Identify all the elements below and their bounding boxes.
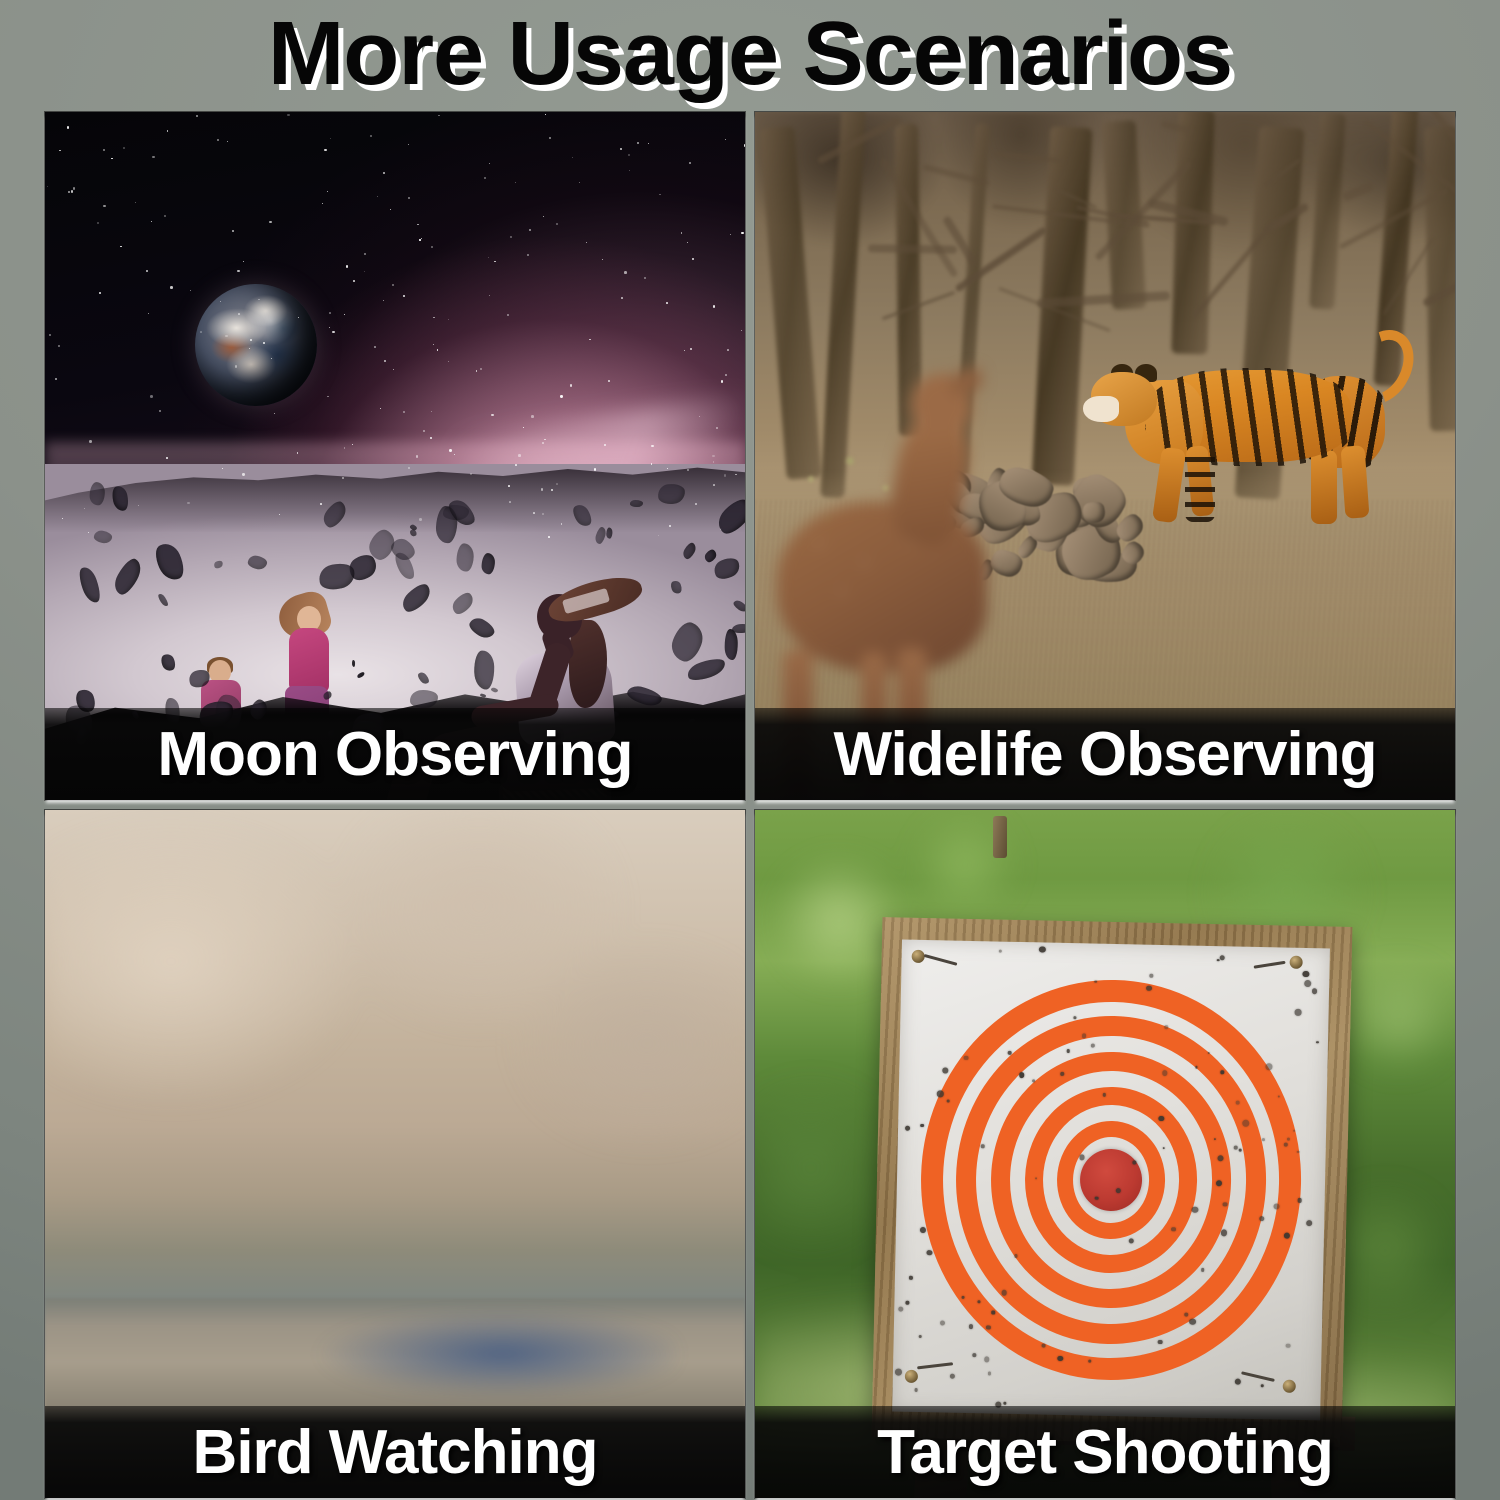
bullet-hole xyxy=(987,1372,991,1376)
star xyxy=(103,149,106,152)
star xyxy=(602,259,603,260)
caption-bar-target-shooting: Target Shooting xyxy=(755,1406,1455,1498)
star xyxy=(258,299,259,300)
lunar-rock xyxy=(456,543,474,572)
star xyxy=(47,186,48,187)
star xyxy=(364,271,365,272)
star xyxy=(88,532,89,533)
star xyxy=(89,440,92,443)
star xyxy=(684,350,685,351)
bullet-hole xyxy=(1079,1154,1085,1160)
star xyxy=(489,295,490,296)
bullet-hole xyxy=(998,950,1001,953)
star xyxy=(55,378,57,380)
star xyxy=(152,156,155,159)
tree-trunk xyxy=(1171,112,1214,355)
star xyxy=(724,474,727,477)
star xyxy=(166,457,168,459)
star xyxy=(364,253,366,255)
star xyxy=(190,290,191,291)
star xyxy=(111,158,112,159)
star xyxy=(476,370,478,372)
bullet-hole xyxy=(1265,1063,1272,1070)
star xyxy=(120,246,121,247)
star xyxy=(332,331,334,333)
star xyxy=(692,258,695,261)
bullet-hole xyxy=(1236,1100,1240,1104)
star xyxy=(549,137,551,139)
star xyxy=(681,232,683,234)
star xyxy=(556,223,558,225)
bullet-hole xyxy=(1295,1009,1301,1015)
star xyxy=(667,468,668,469)
scenario-panel-grid: Moon Observing xyxy=(45,112,1455,1497)
page-title: More Usage Scenarios xyxy=(0,4,1500,104)
bullet-hole xyxy=(1157,1340,1162,1345)
star xyxy=(507,314,509,316)
caption-bar-widelife-observing: Widelife Observing xyxy=(755,708,1455,800)
star xyxy=(62,518,63,519)
bullet-hole xyxy=(914,1388,918,1392)
star xyxy=(327,191,328,192)
star xyxy=(589,339,591,341)
star xyxy=(269,221,272,224)
bullet-hole xyxy=(1219,955,1224,960)
star xyxy=(449,449,452,452)
bullet-hole xyxy=(1306,1220,1312,1226)
star xyxy=(392,284,394,286)
board-screw xyxy=(1290,956,1303,969)
bullet-hole xyxy=(1214,1138,1216,1140)
star xyxy=(170,286,173,289)
bullet-hole xyxy=(1184,1312,1188,1316)
scenario-panel-bird-watching[interactable]: Bird Watching xyxy=(45,810,745,1498)
star xyxy=(344,314,345,315)
star xyxy=(437,349,439,351)
star xyxy=(384,360,387,363)
caption-label-widelife-observing: Widelife Observing xyxy=(834,719,1377,790)
bullet-hole xyxy=(1159,1116,1165,1122)
star xyxy=(494,261,495,262)
star xyxy=(330,138,331,139)
star xyxy=(232,230,234,232)
star xyxy=(403,411,405,413)
star xyxy=(103,205,105,207)
nail-mark xyxy=(1254,961,1286,969)
star xyxy=(416,455,418,457)
star xyxy=(529,229,531,231)
bullet-hole xyxy=(984,1357,989,1362)
star xyxy=(393,369,394,370)
star xyxy=(620,148,622,150)
star xyxy=(403,295,405,297)
bullet-hole xyxy=(1303,971,1309,977)
bullet-hole xyxy=(1201,1268,1205,1272)
star xyxy=(629,170,630,171)
bullet-hole xyxy=(1242,1120,1249,1127)
star xyxy=(329,327,330,328)
star xyxy=(431,246,433,248)
star xyxy=(669,525,671,527)
board-screw xyxy=(912,950,925,963)
star xyxy=(527,254,529,256)
star xyxy=(146,270,148,272)
bullet-hole xyxy=(1089,1359,1092,1362)
star xyxy=(508,485,510,487)
earth-planet-icon xyxy=(195,284,317,406)
bullet-hole xyxy=(1162,1071,1167,1076)
star xyxy=(59,150,61,152)
bullet-hole xyxy=(1238,1148,1241,1151)
star xyxy=(628,154,630,156)
star xyxy=(71,190,73,192)
star xyxy=(570,384,572,386)
star xyxy=(433,317,434,318)
caption-label-moon-observing: Moon Observing xyxy=(157,719,632,790)
bullet-hole xyxy=(1259,1216,1264,1221)
bullet-hole xyxy=(898,1307,903,1312)
star xyxy=(320,503,322,505)
bullet-hole xyxy=(1304,980,1311,987)
bullet-hole xyxy=(1164,1025,1168,1029)
star xyxy=(744,144,745,147)
star xyxy=(97,222,99,224)
star xyxy=(159,410,161,412)
lunar-rock xyxy=(724,629,737,660)
target-board xyxy=(892,940,1330,1421)
star xyxy=(430,437,432,439)
star xyxy=(243,261,244,262)
bullet-hole xyxy=(943,1067,949,1073)
star xyxy=(648,143,649,144)
bullet-hole xyxy=(1057,1356,1063,1362)
bullet-hole xyxy=(1095,980,1097,982)
star xyxy=(380,408,381,409)
nail-mark xyxy=(924,954,958,966)
bullet-hole xyxy=(1032,1079,1035,1082)
bullet-hole xyxy=(927,1250,933,1256)
caption-label-target-shooting: Target Shooting xyxy=(877,1417,1333,1488)
star xyxy=(419,239,420,240)
star xyxy=(390,209,391,210)
bullet-hole xyxy=(1162,1147,1164,1149)
star xyxy=(624,271,627,274)
bullet-hole xyxy=(895,1369,902,1376)
target-wooden-frame xyxy=(872,917,1353,1447)
bullet-hole xyxy=(940,1320,946,1326)
star xyxy=(716,427,718,429)
star xyxy=(545,114,546,115)
star xyxy=(225,335,227,337)
star xyxy=(421,238,422,239)
star xyxy=(725,374,727,376)
star xyxy=(533,512,535,514)
star xyxy=(644,277,646,279)
bullet-hole xyxy=(1262,1138,1265,1141)
star xyxy=(480,368,482,370)
star xyxy=(515,182,516,183)
bullet-hole xyxy=(1132,1161,1136,1165)
nail-mark xyxy=(917,1362,953,1369)
caption-label-bird-watching: Bird Watching xyxy=(193,1417,598,1488)
bullet-hole xyxy=(919,1335,922,1338)
nail-mark xyxy=(1241,1371,1275,1382)
star xyxy=(572,157,573,158)
bullet-hole xyxy=(992,1311,995,1314)
star xyxy=(167,130,169,132)
caption-bar-moon-observing: Moon Observing xyxy=(45,708,745,800)
star xyxy=(346,265,348,267)
star xyxy=(621,297,623,299)
star xyxy=(135,202,136,203)
widelife-observing-photo xyxy=(755,112,1455,800)
bullet-hole xyxy=(1008,1051,1012,1055)
star xyxy=(433,344,434,345)
bullet-hole xyxy=(1019,1072,1025,1078)
star xyxy=(515,464,517,466)
bullet-hole xyxy=(1003,1401,1006,1404)
star xyxy=(484,177,486,179)
tiger-figure xyxy=(1085,330,1415,530)
star xyxy=(150,395,153,398)
star xyxy=(151,221,152,222)
star xyxy=(164,215,166,217)
bullet-hole xyxy=(968,1324,973,1329)
star xyxy=(689,162,691,164)
star xyxy=(344,447,346,449)
star xyxy=(727,349,729,351)
star xyxy=(370,135,372,137)
bullet-hole xyxy=(1095,1197,1098,1200)
bullet-hole xyxy=(972,1353,976,1357)
star xyxy=(377,196,378,197)
star xyxy=(604,444,606,446)
star xyxy=(730,234,731,235)
star xyxy=(68,191,70,193)
star xyxy=(217,139,219,141)
star xyxy=(448,361,449,362)
star xyxy=(383,300,384,301)
star xyxy=(651,463,652,464)
star xyxy=(227,141,228,142)
star xyxy=(123,147,125,149)
star xyxy=(651,445,653,447)
scenario-panel-moon-observing[interactable]: Moon Observing xyxy=(45,112,745,800)
bullet-hole xyxy=(1189,1318,1196,1325)
star xyxy=(488,257,489,258)
star xyxy=(222,468,223,469)
star xyxy=(242,473,244,475)
target-hanger xyxy=(993,816,1007,858)
star xyxy=(741,330,742,331)
star xyxy=(148,313,149,314)
bullet-hole xyxy=(1074,1016,1077,1019)
bullet-hole xyxy=(937,1091,944,1098)
star xyxy=(531,415,534,418)
star xyxy=(741,232,743,234)
star xyxy=(666,302,668,304)
star xyxy=(271,358,272,359)
star xyxy=(329,312,331,314)
star xyxy=(560,395,562,397)
star xyxy=(431,411,432,412)
star xyxy=(274,413,275,414)
bullet-hole xyxy=(1316,1041,1319,1044)
star xyxy=(659,194,660,195)
star xyxy=(687,242,688,243)
star xyxy=(518,454,521,457)
star xyxy=(542,513,544,515)
star xyxy=(417,224,418,225)
star xyxy=(556,483,558,485)
star xyxy=(374,346,376,348)
star xyxy=(543,216,545,218)
bullet-hole xyxy=(1066,1049,1069,1052)
bullet-hole xyxy=(1297,1198,1302,1203)
star xyxy=(383,172,385,174)
star xyxy=(58,345,60,347)
star xyxy=(637,142,639,144)
bullet-hole xyxy=(978,1300,981,1303)
bullet-hole xyxy=(1312,989,1317,994)
star xyxy=(67,126,69,128)
caption-bar-bird-watching: Bird Watching xyxy=(45,1406,745,1498)
star xyxy=(73,187,75,189)
star xyxy=(586,242,587,243)
star xyxy=(408,144,409,145)
board-screw xyxy=(1283,1380,1296,1393)
star xyxy=(690,348,692,350)
bullet-hole xyxy=(1150,974,1154,978)
star xyxy=(713,484,715,486)
star xyxy=(725,139,726,140)
bullet-hole xyxy=(1234,1378,1241,1385)
bullet-hole xyxy=(1039,946,1046,953)
star xyxy=(551,489,553,491)
board-screw xyxy=(905,1370,918,1383)
star xyxy=(322,203,323,204)
scenario-panel-target-shooting[interactable]: Target Shooting xyxy=(755,810,1455,1498)
star xyxy=(510,236,512,238)
star xyxy=(491,414,493,416)
star xyxy=(353,280,355,282)
star xyxy=(327,396,328,397)
bullet-hole xyxy=(1102,1093,1106,1097)
star xyxy=(548,536,550,538)
star xyxy=(438,115,440,117)
bullet-hole xyxy=(1284,1233,1290,1239)
bullet-hole xyxy=(964,1056,968,1060)
star xyxy=(352,444,353,445)
bullet-hole xyxy=(909,1276,912,1279)
star xyxy=(713,305,715,307)
star xyxy=(49,334,51,336)
bird-watching-photo xyxy=(45,810,745,1498)
star xyxy=(448,319,449,320)
moon-observing-photo xyxy=(45,112,745,800)
star xyxy=(99,292,101,294)
star xyxy=(324,149,326,151)
bullet-hole xyxy=(1060,1072,1064,1076)
bullet-hole xyxy=(920,1227,926,1233)
bullet-hole xyxy=(1286,1344,1290,1348)
bullet-hole xyxy=(906,1301,910,1305)
star xyxy=(721,380,723,382)
star xyxy=(579,182,580,183)
star xyxy=(470,473,472,475)
star xyxy=(250,339,252,341)
star xyxy=(287,114,290,117)
bullet-hole xyxy=(1234,1146,1238,1150)
star xyxy=(249,348,250,349)
star xyxy=(196,115,198,117)
star xyxy=(542,442,544,444)
target-shooting-photo xyxy=(755,810,1455,1498)
star xyxy=(509,501,511,503)
bullet-hole xyxy=(1261,1384,1264,1387)
star xyxy=(608,380,610,382)
bullet-hole xyxy=(981,1145,984,1148)
star xyxy=(423,430,425,432)
bullet-hole xyxy=(950,1374,955,1379)
scenario-panel-widelife-observing[interactable]: Widelife Observing xyxy=(755,112,1455,800)
star xyxy=(419,518,422,521)
star xyxy=(489,163,490,164)
bullet-hole xyxy=(905,1125,910,1130)
star xyxy=(237,270,239,272)
star xyxy=(408,197,410,199)
bullet-hole xyxy=(920,1124,924,1128)
